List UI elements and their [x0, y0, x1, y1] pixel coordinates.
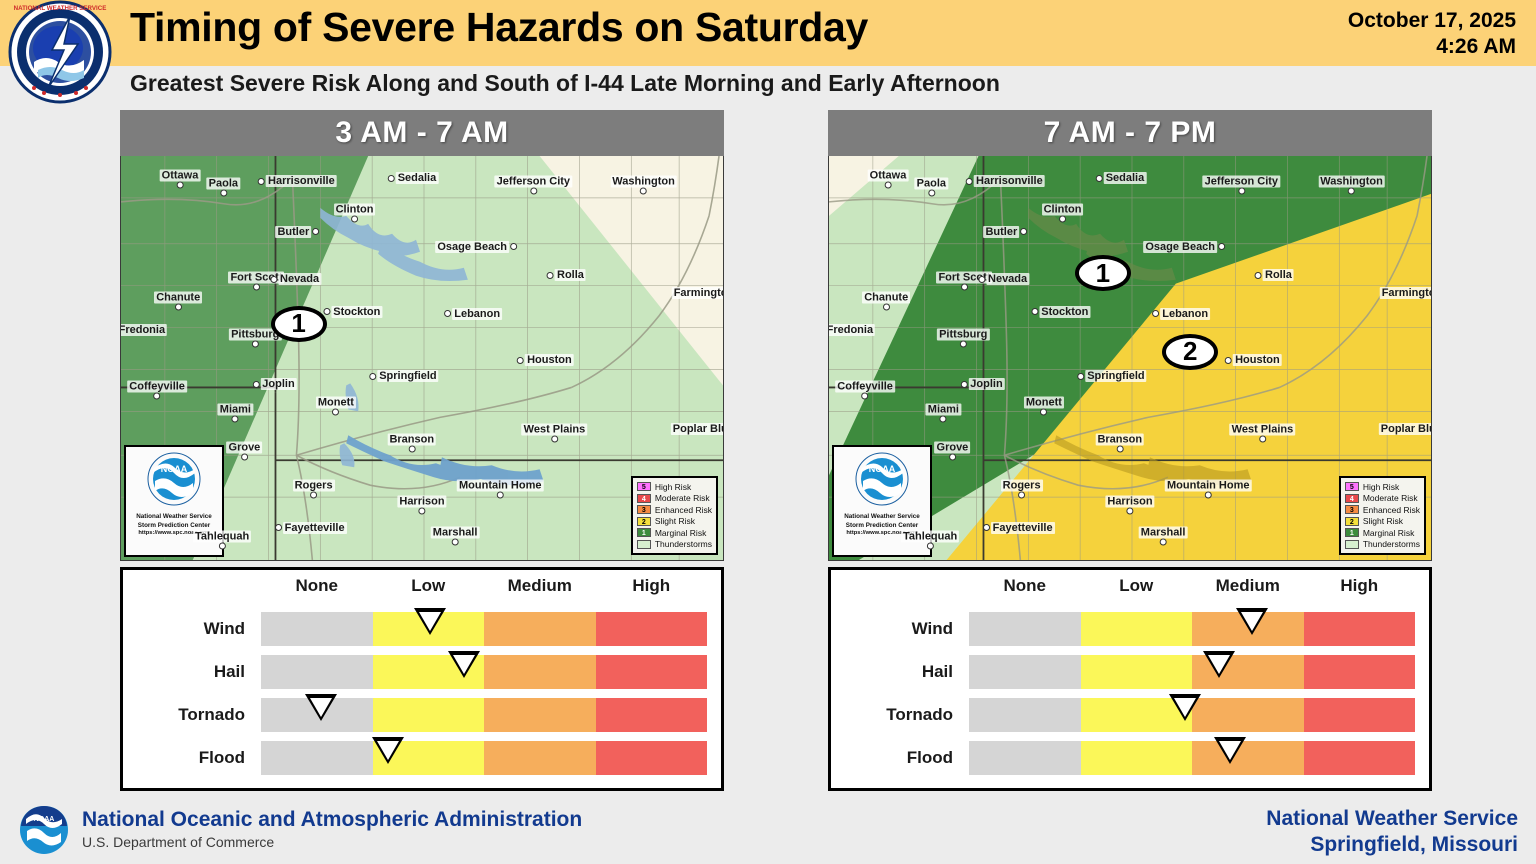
hazard-column-header: Low [1119, 576, 1153, 596]
hazard-row: Wind [123, 612, 721, 646]
spc-legend-swatch: 1 [1345, 528, 1359, 537]
spc-legend-label: Moderate Risk [1363, 493, 1418, 503]
hazard-scale-segment [596, 698, 708, 732]
hazard-scale-bar [261, 741, 707, 775]
spc-legend-row: 5High Risk [637, 481, 712, 493]
spc-legend-swatch: 3 [1345, 505, 1359, 514]
spc-legend-row: 3Enhanced Risk [1345, 504, 1420, 516]
spc-legend-label: Slight Risk [1363, 516, 1403, 526]
hazard-scale-bar [261, 655, 707, 689]
pointer-fill [1241, 612, 1263, 631]
svg-text:NATIONAL WEATHER SERVICE: NATIONAL WEATHER SERVICE [14, 5, 107, 12]
hazard-table-right: NoneLowMediumHigh WindHailTornadoFlood [828, 567, 1432, 791]
hazard-scale-segment [1304, 655, 1416, 689]
spc-legend-swatch: 2 [637, 517, 651, 526]
hazard-scale-segment [1192, 741, 1304, 775]
noaa-logo: NOAA [141, 451, 207, 511]
hazard-scale-segment [1304, 612, 1416, 646]
spc-legend-label: High Risk [655, 482, 691, 492]
footer-office-line1: National Weather Service [1266, 806, 1518, 832]
hazard-scale-segment [484, 698, 596, 732]
hazard-column-header: Medium [508, 576, 572, 596]
panel-title-right: 7 AM - 7 PM [828, 110, 1432, 156]
spc-credit-line2: Storm Prediction Center [844, 522, 919, 531]
hazard-scale-segment [969, 655, 1081, 689]
panel-title-left: 3 AM - 7 AM [120, 110, 724, 156]
hazard-scale-segment [969, 698, 1081, 732]
hazard-scale-segment [1081, 741, 1193, 775]
spc-legend-label: Enhanced Risk [1363, 505, 1420, 515]
spc-legend-swatch: 5 [1345, 482, 1359, 491]
pointer-fill [1174, 698, 1196, 717]
hazard-row-label: Wind [831, 612, 961, 646]
hazard-scale-bar [969, 698, 1415, 732]
hazard-scale-segment [969, 612, 1081, 646]
hazard-row: Tornado [831, 698, 1429, 732]
spc-url: https://www.spc.noaa.gov [846, 530, 917, 536]
hazard-scale-segment [484, 655, 596, 689]
pointer-fill [1219, 741, 1241, 760]
spc-url: https://www.spc.noaa.gov [138, 530, 209, 536]
spc-credit-box-left: NOAA National Weather Service Storm Pred… [124, 445, 224, 557]
hazard-table-header-right: NoneLowMediumHigh [831, 576, 1429, 602]
hazard-scale-segment [1192, 698, 1304, 732]
hazard-row-label: Tornado [831, 698, 961, 732]
map-number-marker: 1 [1075, 255, 1131, 291]
panel-day: 7 AM - 7 PM [828, 110, 1432, 791]
spc-legend-swatch: 2 [1345, 517, 1359, 526]
hazard-scale-segment [261, 655, 373, 689]
hazard-row: Flood [831, 741, 1429, 775]
risk-map-right: NOAA National Weather Service Storm Pred… [828, 156, 1432, 561]
spc-risk-legend-left: 5High Risk4Moderate Risk3Enhanced Risk2S… [631, 476, 718, 555]
spc-credit-line2: Storm Prediction Center [136, 522, 211, 531]
hazard-column-header: None [1004, 576, 1047, 596]
hazard-scale-segment [1304, 698, 1416, 732]
hazard-scale-segment [596, 655, 708, 689]
hazard-row-label: Flood [123, 741, 253, 775]
map-number-marker: 1 [271, 306, 327, 342]
spc-legend-label: Marginal Risk [655, 528, 707, 538]
hazard-table-left: NoneLowMediumHigh WindHailTornadoFlood [120, 567, 724, 791]
risk-map-left: NOAA National Weather Service Storm Pred… [120, 156, 724, 561]
hazard-scale-bar [261, 698, 707, 732]
spc-legend-swatch: 4 [1345, 494, 1359, 503]
spc-legend-label: Thunderstorms [1363, 539, 1420, 549]
hazard-scale-segment [1081, 612, 1193, 646]
hazard-table-header-left: NoneLowMediumHigh [123, 576, 721, 602]
nws-seal-logo: NATIONAL WEATHER SERVICE [4, 0, 116, 105]
spc-legend-swatch: 1 [637, 528, 651, 537]
hazard-scale-segment [484, 741, 596, 775]
spc-legend-label: Enhanced Risk [655, 505, 712, 515]
spc-credit-line1: National Weather Service [136, 513, 211, 522]
hazard-scale-segment [261, 612, 373, 646]
spc-legend-swatch: 4 [637, 494, 651, 503]
hazard-scale-segment [596, 612, 708, 646]
page-subtitle: Greatest Severe Risk Along and South of … [130, 70, 1000, 97]
hazard-scale-bar [969, 741, 1415, 775]
spc-legend-swatch: 3 [637, 505, 651, 514]
hazard-scale-segment [1304, 741, 1416, 775]
spc-legend-row: Thunderstorms [637, 539, 712, 551]
issue-time: 4:26 AM [1348, 34, 1516, 60]
panel-early-morning: 3 AM - 7 AM [120, 110, 724, 791]
svg-text:NOAA: NOAA [161, 464, 188, 474]
footer: NOAA National Oceanic and Atmospheric Ad… [0, 796, 1536, 864]
map-number-marker: 2 [1162, 334, 1218, 370]
spc-risk-legend-right: 5High Risk4Moderate Risk3Enhanced Risk2S… [1339, 476, 1426, 555]
spc-legend-row: 4Moderate Risk [1345, 493, 1420, 505]
footer-agency-name: National Oceanic and Atmospheric Adminis… [82, 808, 582, 831]
pointer-fill [310, 698, 332, 717]
spc-legend-label: Thunderstorms [655, 539, 712, 549]
spc-legend-label: Marginal Risk [1363, 528, 1415, 538]
footer-noaa-block: NOAA National Oceanic and Atmospheric Ad… [18, 804, 582, 856]
hazard-column-header: Low [411, 576, 445, 596]
spc-legend-row: 2Slight Risk [1345, 516, 1420, 528]
hazard-column-header: Medium [1216, 576, 1280, 596]
hazard-column-header: High [1340, 576, 1378, 596]
spc-legend-swatch [1345, 540, 1359, 549]
spc-legend-row: 3Enhanced Risk [637, 504, 712, 516]
pointer-fill [453, 655, 475, 674]
pointer-fill [377, 741, 399, 760]
hazard-row: Wind [831, 612, 1429, 646]
hazard-scale-segment [596, 741, 708, 775]
spc-legend-row: 1Marginal Risk [1345, 527, 1420, 539]
issue-date: October 17, 2025 [1348, 8, 1516, 34]
footer-office: National Weather Service Springfield, Mi… [1266, 806, 1518, 859]
hazard-row-label: Wind [123, 612, 253, 646]
page-title: Timing of Severe Hazards on Saturday [130, 4, 868, 51]
hazard-row-label: Hail [831, 655, 961, 689]
spc-legend-row: 5High Risk [1345, 481, 1420, 493]
spc-legend-swatch: 5 [637, 482, 651, 491]
hazard-scale-bar [261, 612, 707, 646]
hazard-column-header: None [296, 576, 339, 596]
hazard-column-header: High [632, 576, 670, 596]
pointer-fill [1208, 655, 1230, 674]
spc-legend-row: 4Moderate Risk [637, 493, 712, 505]
spc-credit-box-right: NOAA National Weather Service Storm Pred… [832, 445, 932, 557]
spc-legend-label: Moderate Risk [655, 493, 710, 503]
hazard-scale-bar [969, 655, 1415, 689]
hazard-row: Tornado [123, 698, 721, 732]
noaa-logo: NOAA [18, 804, 70, 856]
spc-legend-row: 1Marginal Risk [637, 527, 712, 539]
spc-legend-row: 2Slight Risk [637, 516, 712, 528]
hazard-row-label: Flood [831, 741, 961, 775]
hazard-row-label: Hail [123, 655, 253, 689]
hazard-scale-segment [1081, 655, 1193, 689]
hazard-scale-segment [969, 741, 1081, 775]
spc-legend-row: Thunderstorms [1345, 539, 1420, 551]
spc-credit-line1: National Weather Service [844, 513, 919, 522]
footer-office-line2: Springfield, Missouri [1266, 832, 1518, 858]
footer-department: U.S. Department of Commerce [82, 834, 582, 850]
hazard-scale-segment [373, 698, 485, 732]
hazard-row-label: Tornado [123, 698, 253, 732]
hazard-scale-segment [261, 741, 373, 775]
pointer-fill [419, 612, 441, 631]
spc-legend-swatch [637, 540, 651, 549]
timestamp: October 17, 2025 4:26 AM [1348, 8, 1516, 59]
noaa-logo: NOAA [849, 451, 915, 511]
svg-text:NOAA: NOAA [869, 464, 896, 474]
hazard-scale-bar [969, 612, 1415, 646]
svg-text:NOAA: NOAA [34, 816, 55, 823]
hazard-scale-segment [484, 612, 596, 646]
hazard-row: Hail [831, 655, 1429, 689]
spc-legend-label: High Risk [1363, 482, 1399, 492]
spc-legend-label: Slight Risk [655, 516, 695, 526]
hazard-row: Flood [123, 741, 721, 775]
hazard-row: Hail [123, 655, 721, 689]
